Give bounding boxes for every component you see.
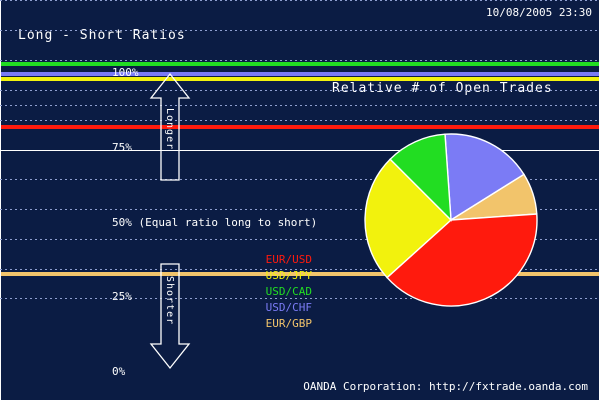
open-trades-pie-chart xyxy=(363,132,539,308)
timestamp: 10/08/2005 23:30 xyxy=(486,6,592,19)
legend-item-eur-usd: EUR/USD xyxy=(222,252,312,268)
footer-attribution: OANDA Corporation: http://fxtrade.oanda.… xyxy=(303,380,588,393)
ratio-bar-usd-jpy xyxy=(1,77,599,81)
axis-tick-label: 25% xyxy=(112,291,132,302)
gridline-dotted xyxy=(0,0,600,1)
shorter-arrow: Shorter xyxy=(148,262,192,370)
axis-tick-label: 0% xyxy=(112,366,125,377)
longer-arrow-label: Longer xyxy=(164,108,175,150)
longer-arrow: Longer xyxy=(148,72,192,182)
shorter-arrow-label: Shorter xyxy=(164,276,175,325)
long-short-ratio-plot xyxy=(0,0,70,299)
gridline-dotted xyxy=(0,90,600,91)
axis-tick-label: 50% (Equal ratio long to short) xyxy=(112,217,317,228)
axis-tick-label: 100% xyxy=(112,67,139,78)
legend-item-eur-gbp: EUR/GBP xyxy=(222,316,312,332)
legend-item-usd-jpy: USD/JPY xyxy=(222,268,312,284)
ratio-bar-eur-usd xyxy=(1,125,599,129)
currency-pair-legend: EUR/USDUSD/JPYUSD/CADUSD/CHFEUR/GBP xyxy=(222,252,312,332)
legend-item-usd-chf: USD/CHF xyxy=(222,300,312,316)
legend-item-usd-cad: USD/CAD xyxy=(222,284,312,300)
ratio-bar-usd-chf xyxy=(1,72,599,76)
gridline-dotted xyxy=(0,60,600,61)
axis-tick-label: 75% xyxy=(112,142,132,153)
pie-chart-title: Relative # of Open Trades xyxy=(332,81,553,96)
ratio-bar-usd-cad xyxy=(1,62,599,66)
gridline-dotted xyxy=(0,30,600,31)
gridline-dotted xyxy=(0,105,600,106)
gridline-dotted xyxy=(0,120,600,121)
